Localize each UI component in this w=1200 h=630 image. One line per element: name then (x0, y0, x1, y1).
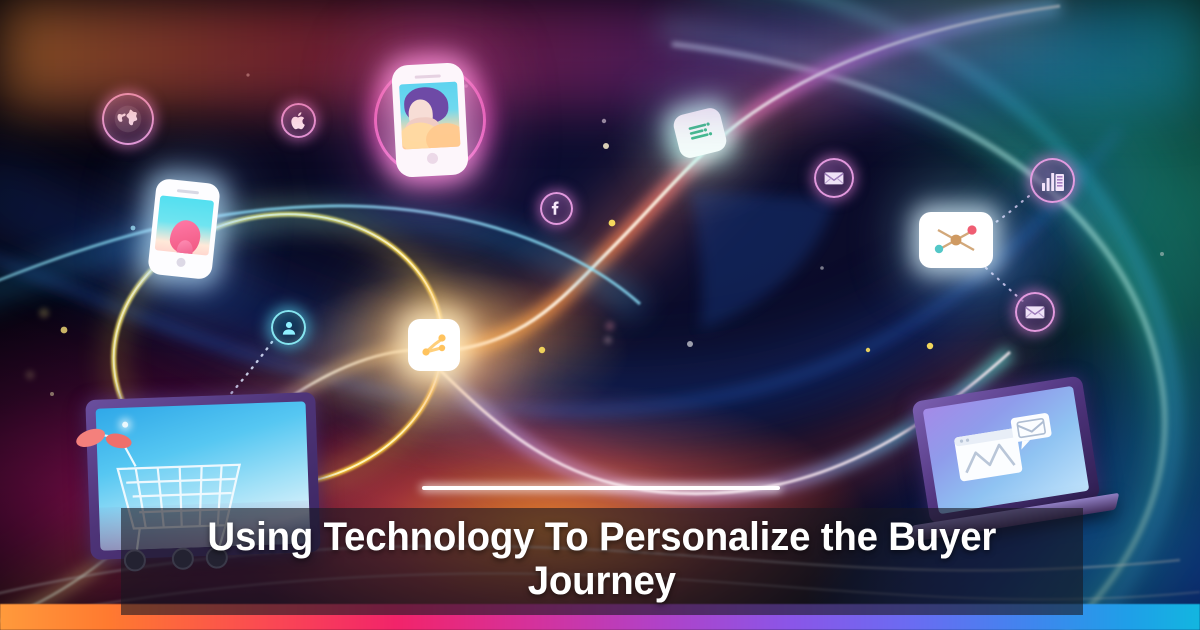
node-smartphone-photo[interactable] (368, 58, 492, 182)
title-block: Using Technology To Personalize the Buye… (121, 508, 1083, 615)
laptop-mail-icon[interactable] (911, 375, 1100, 524)
user-icon (271, 310, 306, 345)
node-email-top[interactable] (814, 158, 854, 198)
globe-icon (102, 93, 154, 145)
phone-home-button (176, 257, 186, 267)
laptop-screen (923, 386, 1090, 514)
phone-speaker (415, 74, 441, 78)
node-analytics[interactable] (1030, 158, 1075, 203)
title-line-1: Using Technology To Personalize the Buye… (208, 515, 997, 559)
envelope-icon (814, 158, 854, 198)
node-user[interactable] (271, 310, 306, 345)
phone-screen (155, 195, 215, 256)
share-image-canvas: Using Technology To Personalize the Buye… (0, 0, 1200, 630)
smartphone-icon (147, 178, 221, 280)
bar-chart-icon (1030, 158, 1075, 203)
page-title: Using Technology To Personalize the Buye… (208, 515, 997, 603)
node-hub[interactable] (408, 319, 460, 371)
phone-home-button (426, 153, 438, 165)
node-message[interactable] (676, 111, 724, 155)
envelope-icon (1015, 292, 1055, 332)
node-email-bottom[interactable] (1015, 292, 1055, 332)
mail-window-graphic (923, 386, 1090, 514)
node-globe[interactable] (102, 93, 154, 145)
share-node-icon (408, 319, 460, 371)
node-smartphone-left[interactable] (152, 181, 216, 277)
node-facebook[interactable] (540, 192, 573, 225)
title-divider-rule (422, 486, 780, 490)
smartphone-photo-icon (391, 62, 469, 178)
message-lines-icon (671, 106, 728, 160)
phone-speaker (177, 189, 199, 194)
phone-photo-screen (399, 82, 460, 150)
apple-icon (281, 103, 316, 138)
share-network-icon (919, 212, 993, 268)
node-apple[interactable] (281, 103, 316, 138)
node-network-card[interactable] (919, 212, 993, 268)
title-line-2: Journey (528, 559, 676, 603)
facebook-icon (540, 192, 573, 225)
